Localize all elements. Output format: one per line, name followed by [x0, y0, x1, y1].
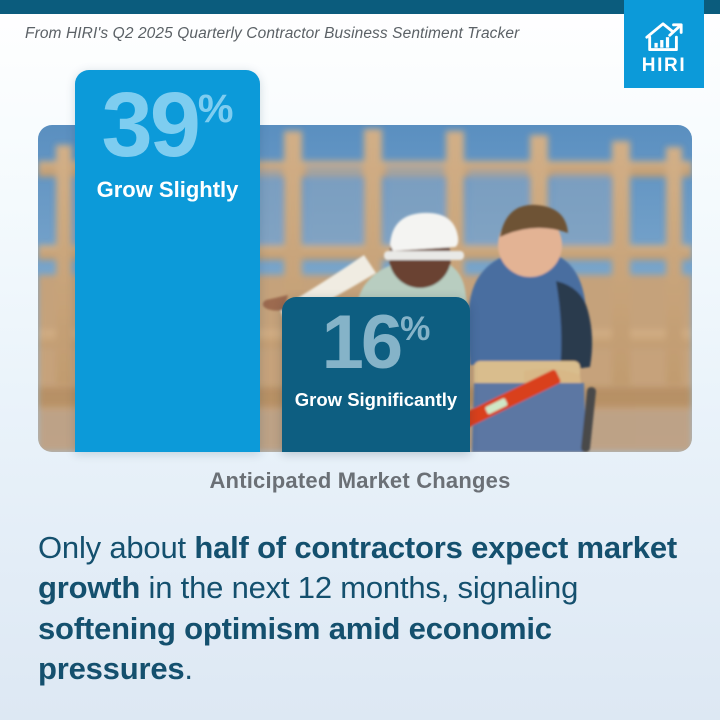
percent-symbol: %: [400, 307, 430, 345]
stat-label-grow-significantly: Grow Significantly: [295, 389, 457, 411]
stat-value-grow-slightly: 39%: [102, 82, 234, 169]
stat-number: 39: [102, 82, 198, 169]
stat-card-grow-slightly: 39% Grow Slightly: [75, 70, 260, 452]
header-kicker-text: From HIRI's Q2 2025 Quarterly Contractor…: [25, 25, 585, 44]
top-accent-bar: [0, 0, 720, 14]
body-copy-segment-4: .: [184, 651, 192, 686]
body-copy-segment-0: Only about: [38, 530, 194, 565]
stat-label-grow-slightly: Grow Slightly: [97, 177, 239, 203]
percent-symbol: %: [198, 82, 234, 128]
stat-value-grow-significantly: 16%: [322, 307, 431, 379]
hiri-logo: HIRI: [624, 0, 704, 88]
body-copy: Only about half of contractors expect ma…: [38, 528, 678, 689]
body-copy-segment-3: softening optimism amid economic pressur…: [38, 611, 552, 686]
body-copy-segment-2: in the next 12 months, signaling: [140, 570, 578, 605]
house-chart-arrow-icon: [643, 20, 685, 54]
stat-number: 16: [322, 307, 401, 379]
stat-card-grow-significantly: 16% Grow Significantly: [282, 297, 470, 452]
chart-caption: Anticipated Market Changes: [0, 468, 720, 494]
hiri-logo-wordmark: HIRI: [642, 56, 686, 75]
